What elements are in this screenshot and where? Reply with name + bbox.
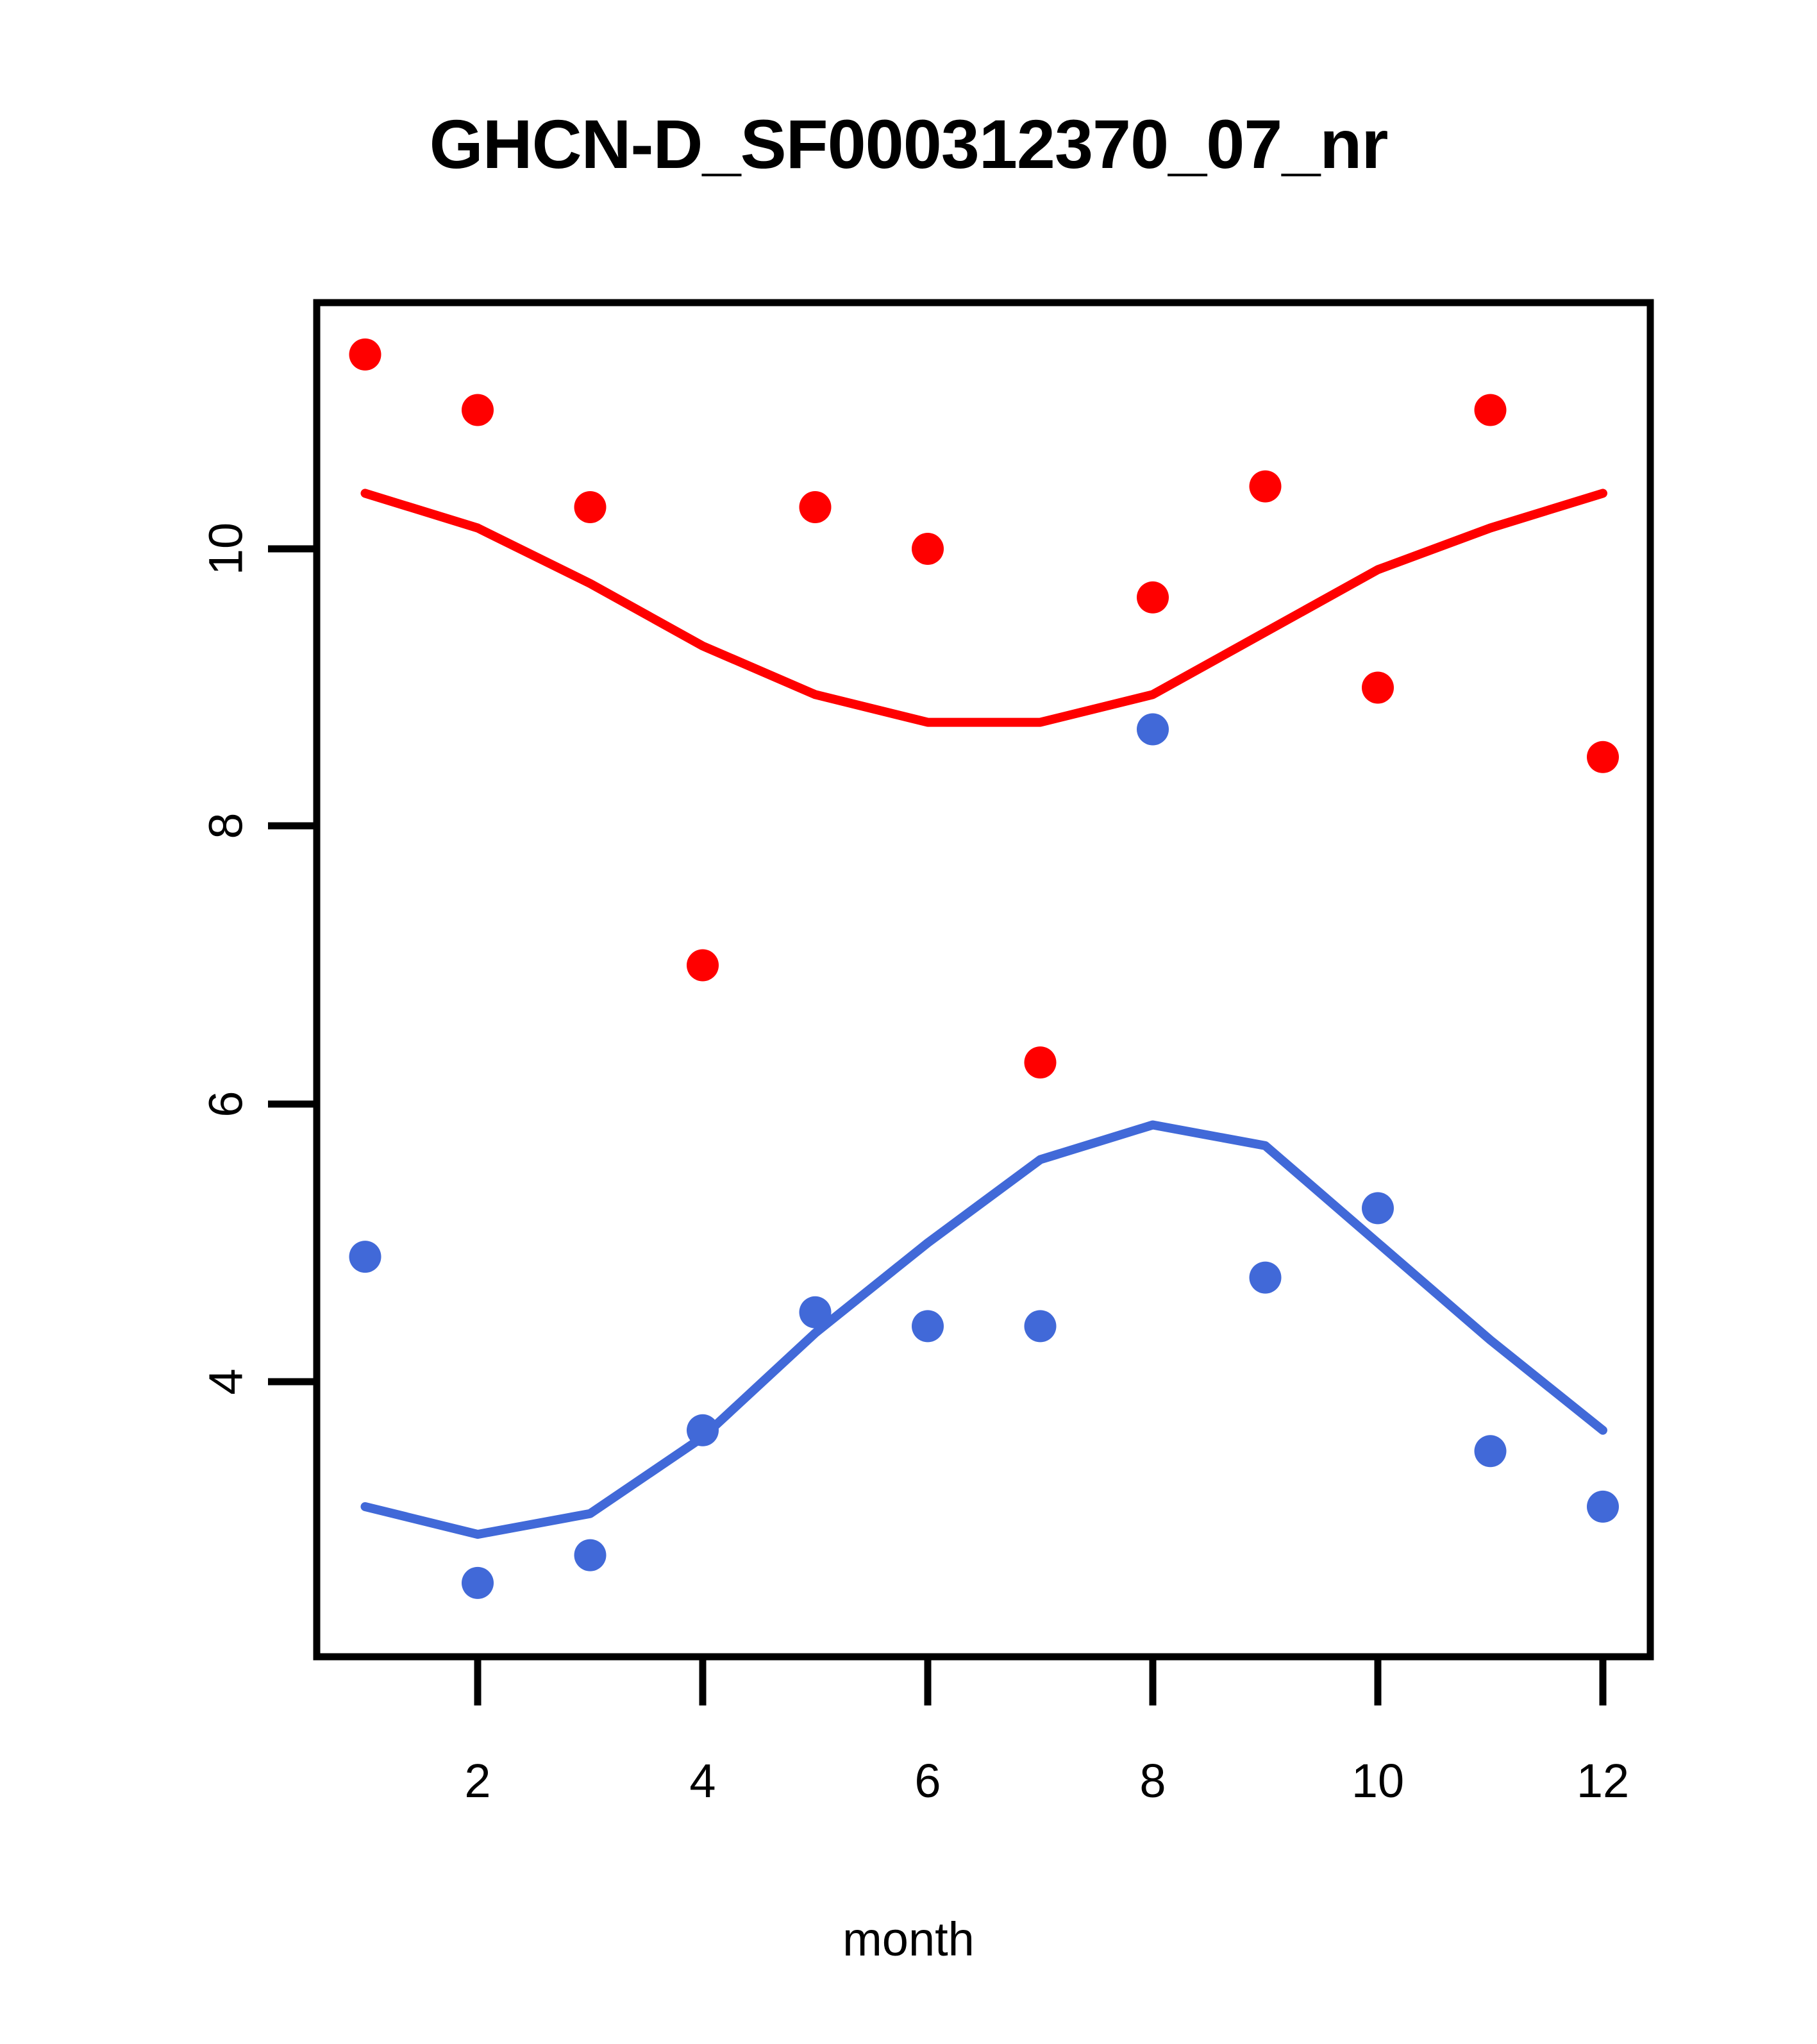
data-point (800, 1296, 832, 1328)
data-point (912, 533, 944, 565)
x-tick-label: 12 (1577, 1754, 1629, 1808)
data-point (574, 1539, 607, 1571)
y-tick-label: 6 (199, 1091, 253, 1117)
data-point (462, 394, 494, 426)
data-point (349, 339, 381, 371)
data-point (1587, 1491, 1619, 1523)
y-tick-label: 4 (199, 1368, 253, 1395)
y-axis-ticks (268, 549, 317, 1382)
data-point (800, 491, 832, 523)
data-series-layer (349, 339, 1620, 1599)
y-tick-label: 8 (199, 812, 253, 839)
x-tick-label: 10 (1352, 1754, 1404, 1808)
red-points (349, 339, 1620, 1078)
blue-line (365, 1125, 1603, 1535)
data-point (1250, 1262, 1282, 1294)
plot-area (0, 0, 1817, 2044)
data-point (1475, 1435, 1507, 1467)
x-axis-label: month (0, 1914, 1817, 1965)
chart-figure: GHCN-D_SF000312370_07_nr 2 4 6 8 10 12 4… (0, 0, 1817, 2044)
data-point (1025, 1046, 1057, 1078)
data-point (687, 1414, 719, 1446)
data-point (1025, 1310, 1057, 1342)
data-point (1587, 741, 1619, 773)
data-point (1362, 672, 1394, 704)
plot-frame (317, 303, 1650, 1657)
data-point (1475, 394, 1507, 426)
x-tick-label: 6 (914, 1754, 941, 1808)
data-point (574, 491, 607, 523)
data-point (1362, 1192, 1394, 1224)
x-axis-ticks (478, 1657, 1603, 1705)
data-point (462, 1567, 494, 1599)
data-point (687, 950, 719, 982)
data-point (912, 1310, 944, 1342)
red-line (365, 493, 1603, 722)
y-tick-label: 10 (199, 523, 253, 575)
data-point (1137, 582, 1169, 614)
data-point (1137, 714, 1169, 746)
x-tick-label: 2 (464, 1754, 490, 1808)
x-tick-label: 4 (689, 1754, 716, 1808)
data-point (349, 1241, 381, 1273)
x-tick-label: 8 (1139, 1754, 1166, 1808)
blue-points (349, 714, 1620, 1599)
data-point (1250, 471, 1282, 503)
